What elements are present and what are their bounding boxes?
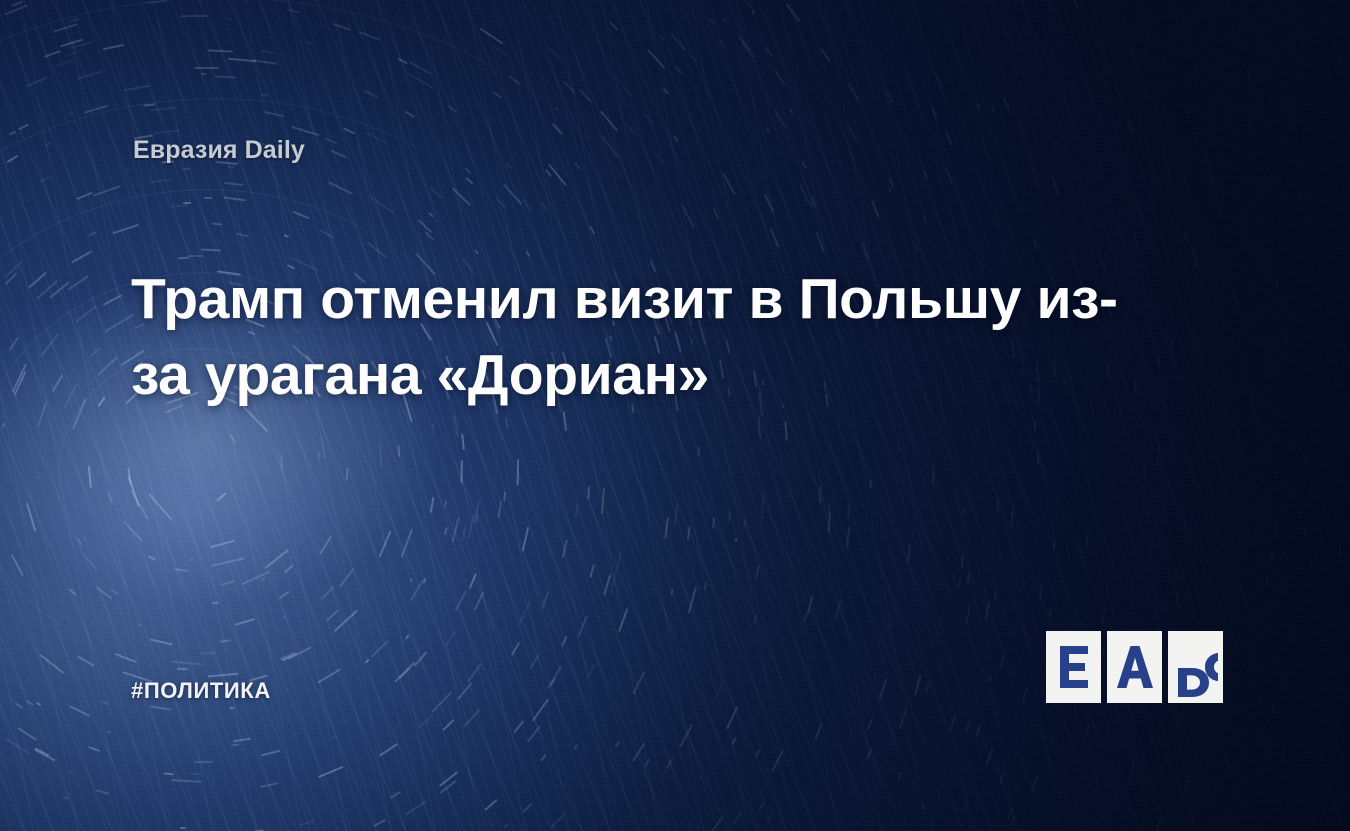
category-hashtag[interactable]: #ПОЛИТИКА (131, 678, 271, 704)
logo-tile-e (1046, 631, 1101, 703)
eadaily-logo[interactable] (1046, 631, 1223, 703)
news-share-card: Евразия Daily Трамп отменил визит в Поль… (0, 0, 1350, 831)
letter-d-icon (1174, 636, 1218, 698)
headline: Трамп отменил визит в Польшу из-за урага… (131, 262, 1171, 414)
letter-e-icon (1056, 643, 1092, 691)
card-content: Евразия Daily Трамп отменил визит в Поль… (0, 0, 1350, 831)
letter-a-icon (1115, 643, 1155, 691)
logo-tile-a (1107, 631, 1162, 703)
publication-name: Евразия Daily (133, 136, 305, 165)
logo-tile-d (1168, 631, 1223, 703)
